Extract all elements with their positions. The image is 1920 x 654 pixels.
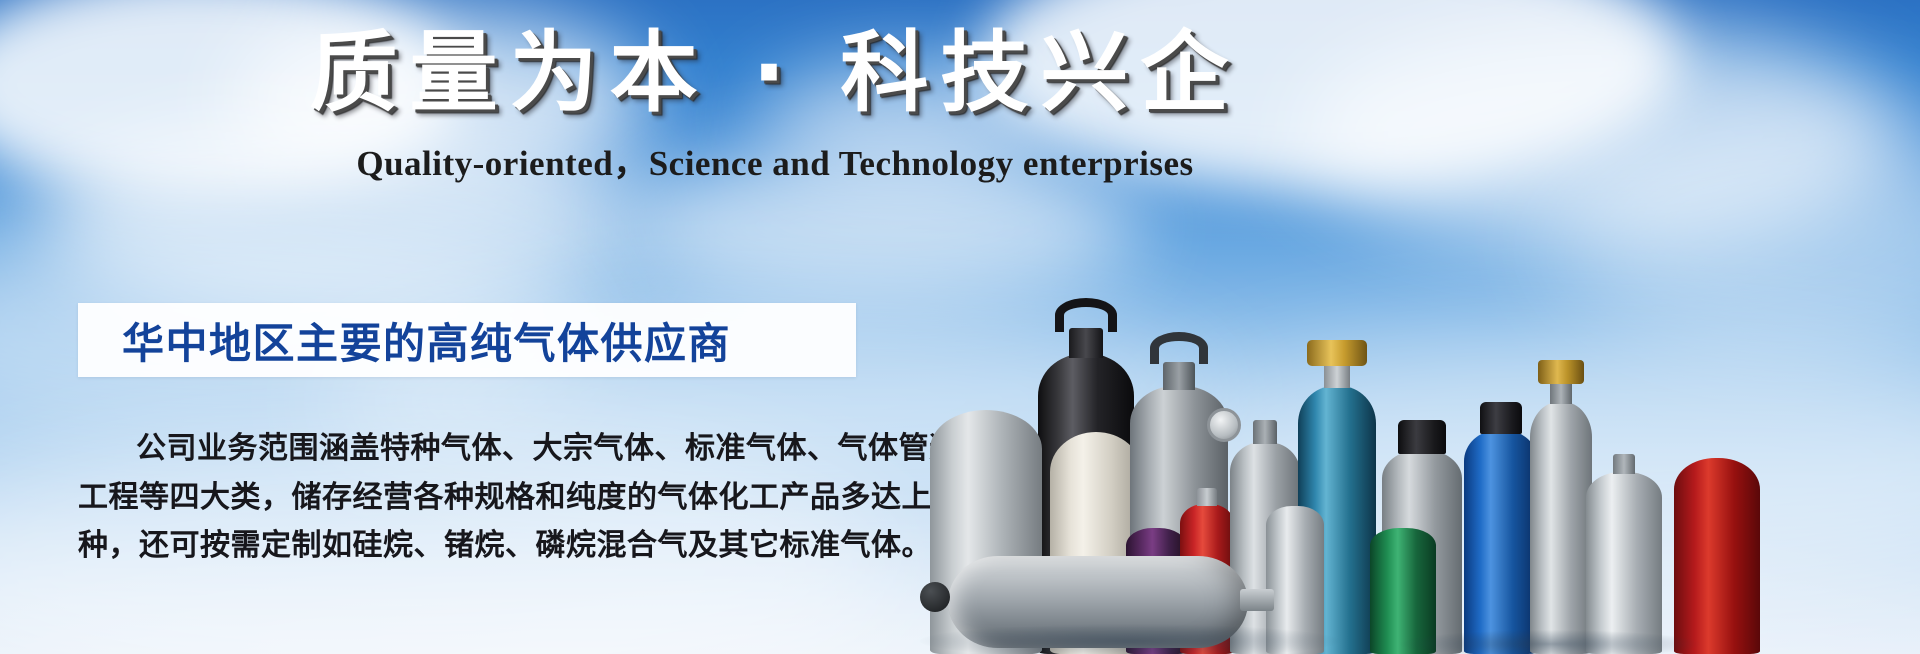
cylinder-neck	[1613, 454, 1635, 474]
cylinder-neck	[1069, 328, 1103, 358]
body-line-text: 工程等四大类，储存经营各种规格和纯度的气体化工产品多达上百	[78, 480, 963, 515]
cylinder-silver-valved	[1530, 402, 1592, 654]
body-paragraph: 公司业务范围涵盖特种气体、大宗气体、标准气体、气体管道 工程等四大类，储存经营各…	[78, 425, 868, 571]
cylinder-aluminium-brushed	[1586, 472, 1662, 654]
cylinder-neck	[1163, 362, 1195, 390]
cylinder-brass-valve	[1307, 340, 1367, 366]
body-line: 工程等四大类，储存经营各种规格和纯度的气体化工产品多达上百	[78, 474, 868, 523]
banner-headline: 质量为本 · 科技兴企	[0, 18, 1550, 129]
ground-shadow	[920, 624, 1340, 654]
body-line-text: 公司业务范围涵盖特种气体、大宗气体、标准气体、气体管道	[136, 431, 960, 466]
body-line: 公司业务范围涵盖特种气体、大宗气体、标准气体、气体管道	[78, 425, 868, 474]
cylinder-blue-bright	[1464, 430, 1538, 654]
high-purity-gas-cylinders-photo	[930, 150, 1920, 654]
cylinder-red-maroon	[1674, 458, 1760, 654]
tank-valve	[1240, 589, 1274, 611]
cylinder-neck	[1197, 488, 1217, 506]
cylinder-black-cap	[1480, 402, 1522, 434]
cylinder-regulator-gauge	[1207, 408, 1241, 442]
body-line-text: 种，还可按需定制如硅烷、锗烷、磷烷混合气及其它标准气体。	[78, 528, 932, 563]
body-line: 种，还可按需定制如硅烷、锗烷、磷烷混合气及其它标准气体。	[78, 522, 868, 571]
slogan-text: 华中地区主要的高纯气体供应商	[122, 310, 731, 371]
cylinder-handle	[1150, 332, 1208, 364]
slogan-box: 华中地区主要的高纯气体供应商	[78, 303, 856, 377]
cylinder-black-cap	[1398, 420, 1446, 454]
tank-knob	[920, 582, 950, 612]
cylinder-neck	[1253, 420, 1277, 444]
ground-shadow	[1400, 630, 1700, 654]
cylinder-brass-valve	[1538, 360, 1584, 384]
cylinder-handle	[1055, 298, 1117, 332]
promotional-banner: 质量为本 · 科技兴企 Quality-oriented，Science and…	[0, 0, 1920, 654]
